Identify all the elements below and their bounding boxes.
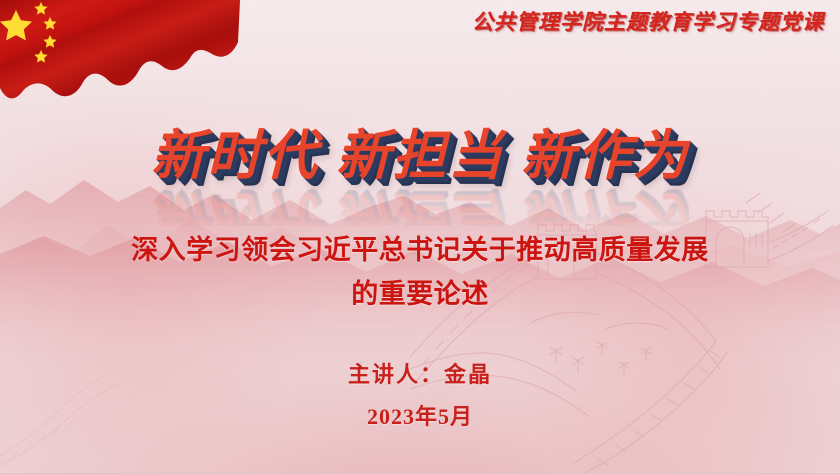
main-title-container: 新时代 新担当 新作为 [0,126,840,190]
presentation-slide: 公共管理学院主题教育学习专题党课 新时代 新担当 新作为 新时代 新担当 新作为… [0,0,840,474]
china-national-flag-icon [0,0,240,125]
presenter-block: 主讲人：金晶 2023年5月 [0,354,840,438]
subtitle-line-1: 深入学习领会习近平总书记关于推动高质量发展 [0,228,840,272]
presenter-name: 主讲人：金晶 [0,354,840,396]
subtitle: 深入学习领会习近平总书记关于推动高质量发展 的重要论述 [0,228,840,316]
subtitle-line-2: 的重要论述 [0,272,840,316]
main-title-text: 新时代 新担当 新作为 [151,126,689,186]
header-course-title: 公共管理学院主题教育学习专题党课 [472,6,824,36]
presentation-date: 2023年5月 [0,396,840,438]
